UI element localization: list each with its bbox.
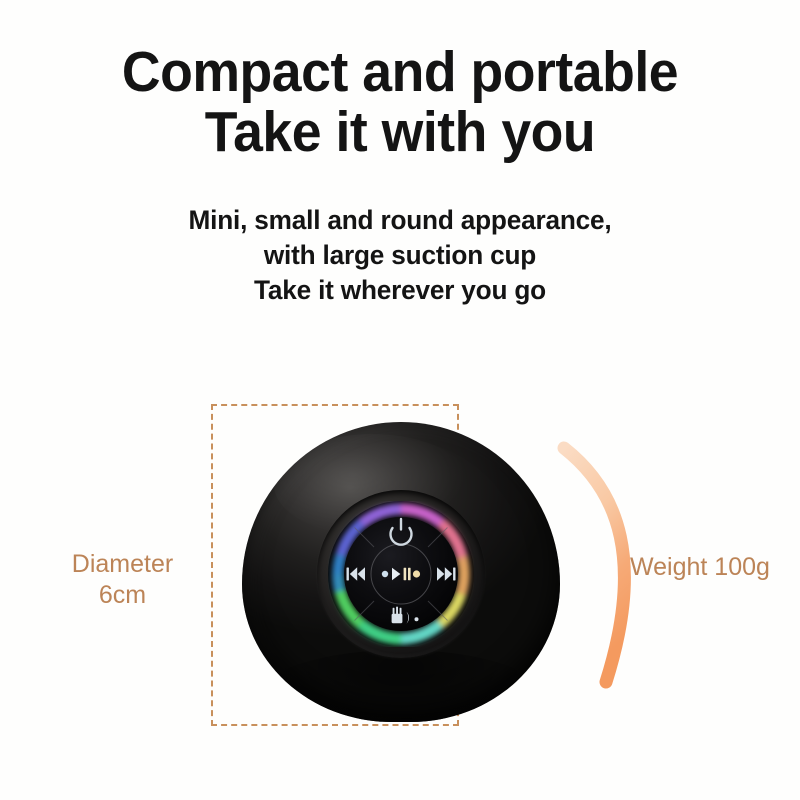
subtitle-line-2: with large suction cup bbox=[12, 238, 788, 273]
speaker-product-image bbox=[242, 422, 560, 722]
control-panel[interactable] bbox=[328, 501, 474, 647]
diameter-label: Diameter 6cm bbox=[40, 549, 205, 611]
subtitle-line-1: Mini, small and round appearance, bbox=[12, 203, 788, 238]
weight-label: Weight 100g bbox=[630, 552, 770, 582]
headline-line-2: Take it with you bbox=[24, 102, 776, 162]
subtitle-line-3: Take it wherever you go bbox=[12, 273, 788, 308]
diameter-label-text: Diameter bbox=[40, 549, 205, 580]
headline-line-1: Compact and portable bbox=[122, 40, 678, 104]
diameter-value-text: 6cm bbox=[40, 580, 205, 611]
product-feature-graphic: Compact and portable Take it with you Mi… bbox=[0, 0, 800, 800]
subtitle-block: Mini, small and round appearance, with l… bbox=[12, 203, 788, 308]
page-title: Compact and portable Take it with you bbox=[24, 42, 776, 162]
